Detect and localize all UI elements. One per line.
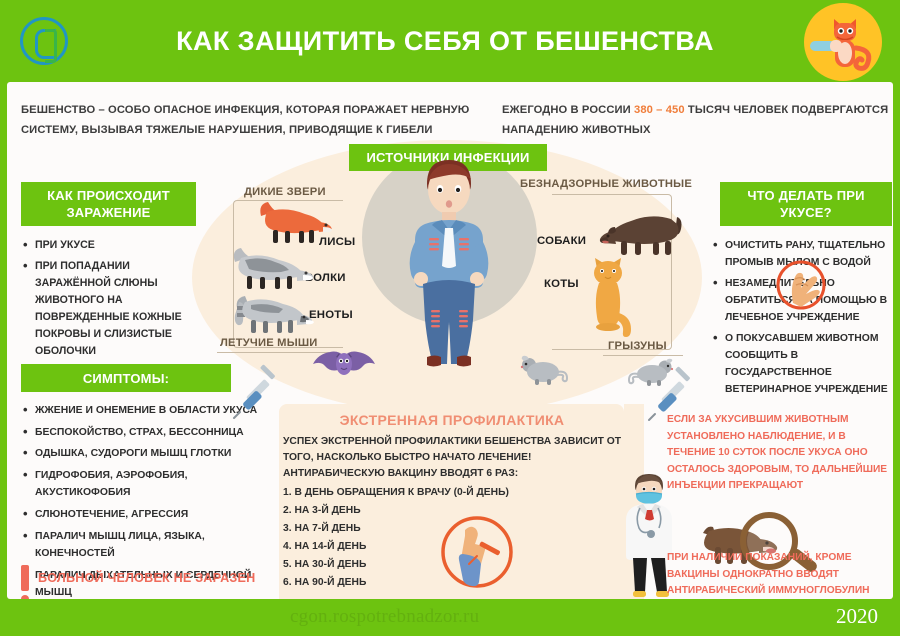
label-stray-animals: БЕЗНАДЗОРНЫЕ ЖИВОТНЫЕ [520, 177, 692, 191]
person-illustration [397, 154, 501, 369]
step-item: 2. НА 3-Й ДЕНЬ [283, 502, 623, 520]
emergency-line: АНТИРАБИЧЕСКУЮ ВАКЦИНУ ВВОДЯТ 6 РАЗ: [283, 466, 623, 482]
page-footer: cgon.rospotrebnadzor.ru 2020 [0, 599, 900, 636]
syringe-icon-left [232, 370, 284, 420]
footer-url: cgon.rospotrebnadzor.ru [290, 606, 479, 628]
label-dogs: СОБАКИ [537, 235, 586, 247]
intro-right-text: ЕЖЕГОДНО В РОССИИ 380 – 450 ТЫСЯЧ ЧЕЛОВЕ… [502, 100, 892, 140]
warning-text: БОЛЬНОЙ ЧЕЛОВЕК НЕ ЗАРАЗЕН [38, 571, 255, 585]
emergency-steps: 1. В ДЕНЬ ОБРАЩЕНИЯ К ВРАЧУ (0-Й ДЕНЬ) 2… [283, 484, 623, 592]
section-title-symptoms: СИМПТОМЫ: [21, 364, 231, 392]
list-item: ПРИ УКУСЕ [21, 237, 196, 254]
list-item: СЛЮНОТЕЧЕНИЕ, АГРЕССИЯ [21, 506, 283, 524]
bat-icon [313, 350, 375, 386]
intro-left-text: БЕШЕНСТВО – ОСОБО ОПАСНОЕ ИНФЕКЦИЯ, КОТО… [21, 100, 491, 140]
section-title-how-infection: КАК ПРОИСХОДИТ ЗАРАЖЕНИЕ [21, 182, 196, 226]
step-item: 1. В ДЕНЬ ОБРАЩЕНИЯ К ВРАЧУ (0-Й ДЕНЬ) [283, 484, 623, 502]
emergency-line: УСПЕХ ЭКСТРЕННОЙ ПРОФИЛАКТИКИ БЕШЕНСТВА … [283, 434, 623, 450]
emergency-body: УСПЕХ ЭКСТРЕННОЙ ПРОФИЛАКТИКИ БЕШЕНСТВА … [283, 434, 623, 592]
page-title: КАК ЗАЩИТИТЬ СЕБЯ ОТ БЕШЕНСТВА [95, 0, 795, 82]
step-item: 3. НА 7-Й ДЕНЬ [283, 520, 623, 538]
label-cats: КОТЫ [544, 278, 579, 290]
wolf-icon [233, 244, 317, 290]
how-infection-list: ПРИ УКУСЕ ПРИ ПОПАДАНИИ ЗАРАЖЁННОЙ СЛЮНЫ… [21, 237, 196, 364]
label-bats: ЛЕТУЧИЕ МЫШИ [220, 336, 318, 350]
intro-right-prefix: ЕЖЕГОДНО В РОССИИ [502, 104, 634, 116]
mouse-icon [519, 355, 569, 385]
list-item: О ПОКУСАВШЕМ ЖИВОТНОМ СООБЩИТЬ В ГОСУДАР… [711, 330, 897, 398]
rodents-underline [603, 355, 683, 356]
page-header: КАК ЗАЩИТИТЬ СЕБЯ ОТ БЕШЕНСТВА [0, 0, 900, 82]
emergency-line: ТОГО, НАСКОЛЬКО БЫСТРО НАЧАТО ЛЕЧЕНИЕ! [283, 450, 623, 466]
wash-hands-icon [775, 259, 827, 311]
cgon-logo-icon [20, 17, 68, 65]
step-item: 5. НА 30-Й ДЕНЬ [283, 556, 623, 574]
cat-icon [583, 257, 641, 339]
content-panel: БЕШЕНСТВО – ОСОБО ОПАСНОЕ ИНФЕКЦИЯ, КОТО… [7, 82, 893, 599]
observation-note: ЕСЛИ ЗА УКУСИВШИМ ЖИВОТНЫМ УСТАНОВЛЕНО Н… [667, 412, 895, 495]
list-item: ПРИ ПОПАДАНИИ ЗАРАЖЁННОЙ СЛЮНЫ ЖИВОТНОГО… [21, 258, 196, 360]
statistic-range: 380 – 450 [634, 104, 685, 116]
dog-icon [599, 207, 683, 255]
fox-icon [257, 200, 337, 244]
label-rodents: ГРЫЗУНЫ [608, 339, 667, 353]
immunoglobulin-note: ПРИ НАЛИЧИИ ПОКАЗАНИЙ, КРОМЕ ВАКЦИНЫ ОДН… [667, 550, 899, 600]
label-wild-animals: ДИКИЕ ЗВЕРИ [244, 185, 326, 199]
warning-banner: БОЛЬНОЙ ЧЕЛОВЕК НЕ ЗАРАЗЕН [21, 565, 301, 591]
list-item: ОДЫШКА, СУДОРОГИ МЫШЦ ГЛОТКИ [21, 445, 283, 463]
exclamation-icon [21, 565, 29, 591]
infographic-page: КАК ЗАЩИТИТЬ СЕБЯ ОТ БЕШЕНСТВА БЕШЕН [0, 0, 900, 636]
list-item: ГИДРОФОБИЯ, АЭРОФОБИЯ, АКУСТИКОФОБИЯ [21, 467, 283, 502]
list-item: ПАРАЛИЧ МЫШЦ ЛИЦА, ЯЗЫКА, КОНЕЧНОСТЕЙ [21, 528, 283, 563]
footer-year: 2020 [836, 604, 878, 629]
step-item: 6. НА 90-Й ДЕНЬ [283, 574, 623, 592]
step-item: 4. НА 14-Й ДЕНЬ [283, 538, 623, 556]
section-title-what-to-do: ЧТО ДЕЛАТЬ ПРИ УКУСЕ? [720, 182, 892, 226]
list-item: БЕСПОКОЙСТВО, СТРАХ, БЕССОННИЦА [21, 424, 283, 442]
raccoon-icon [235, 288, 317, 334]
cat-illustration-icon [804, 3, 882, 81]
label-stray-animals-text: БЕЗНАДЗОРНЫЕ ЖИВОТНЫЕ [520, 178, 692, 190]
emergency-title: ЭКСТРЕННАЯ ПРОФИЛАКТИКА [287, 412, 617, 428]
